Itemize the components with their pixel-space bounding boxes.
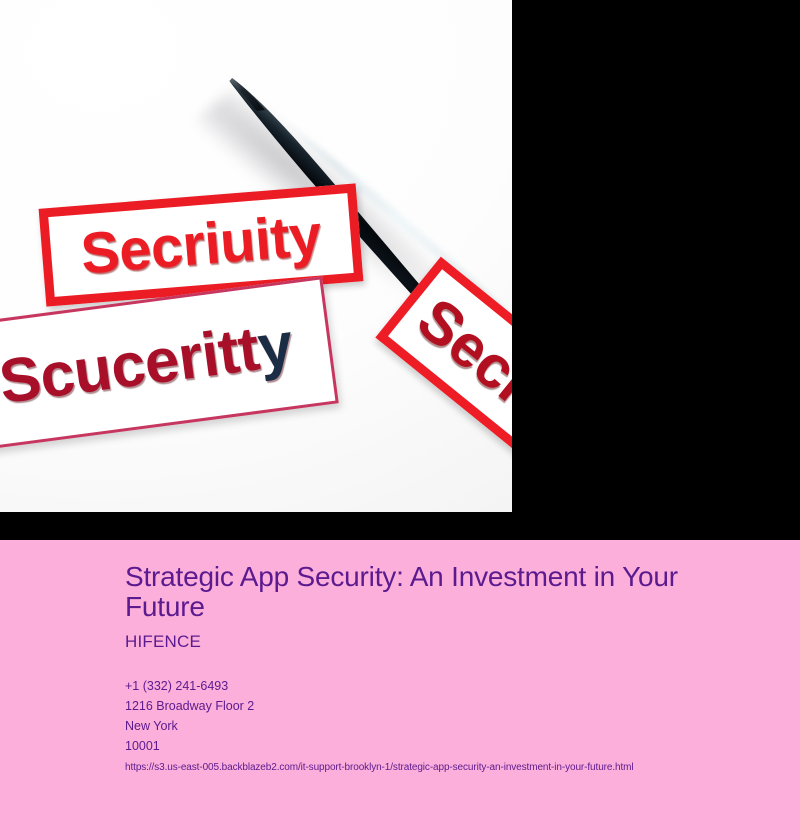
word-label-secriuity: Secriuity — [79, 206, 323, 283]
contact-phone: +1 (332) 241-6493 — [125, 676, 800, 696]
word-label-scuceritty: Scuceritty — [0, 314, 296, 414]
page-title: Strategic App Security: An Investment in… — [125, 562, 725, 622]
brand-name: HIFENCE — [125, 632, 800, 652]
source-url[interactable]: https://s3.us-east-005.backblazeb2.com/i… — [125, 760, 800, 776]
page-root: Secriuity Scuceritty Seclu Strategic App… — [0, 0, 800, 840]
word-label-scuceritty-tail: y — [254, 310, 297, 383]
caption-panel: Strategic App Security: An Investment in… — [0, 540, 800, 840]
word-label-scuceritty-main: Scuceritt — [0, 314, 263, 416]
article-photo: Secriuity Scuceritty Seclu — [0, 0, 512, 512]
contact-city: New York — [125, 716, 800, 736]
contact-block: +1 (332) 241-6493 1216 Broadway Floor 2 … — [125, 676, 800, 756]
contact-postal-code: 10001 — [125, 736, 800, 756]
contact-street: 1216 Broadway Floor 2 — [125, 696, 800, 716]
